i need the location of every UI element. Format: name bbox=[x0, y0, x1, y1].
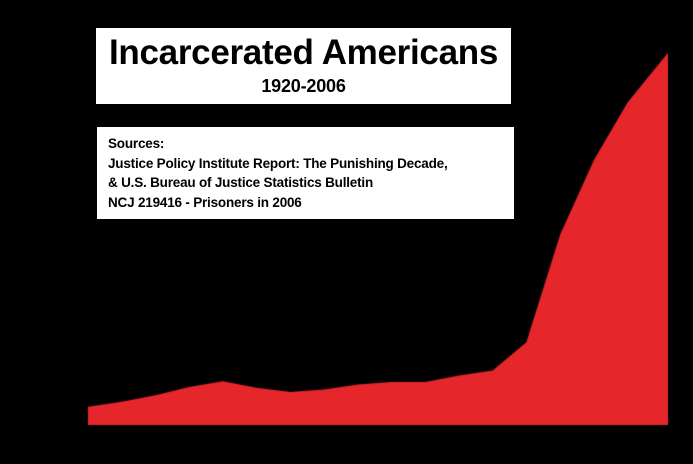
title-card: Incarcerated Americans 1920-2006 bbox=[96, 28, 511, 104]
chart-subtitle: 1920-2006 bbox=[106, 74, 501, 98]
sources-card: Sources: Justice Policy Institute Report… bbox=[97, 127, 514, 219]
sources-line: NCJ 219416 - Prisoners in 2006 bbox=[108, 193, 514, 213]
sources-line: Justice Policy Institute Report: The Pun… bbox=[108, 154, 514, 174]
page-title: Incarcerated Americans bbox=[106, 32, 501, 74]
sources-line: & U.S. Bureau of Justice Statistics Bull… bbox=[108, 173, 514, 193]
sources-line: Sources: bbox=[108, 134, 514, 154]
